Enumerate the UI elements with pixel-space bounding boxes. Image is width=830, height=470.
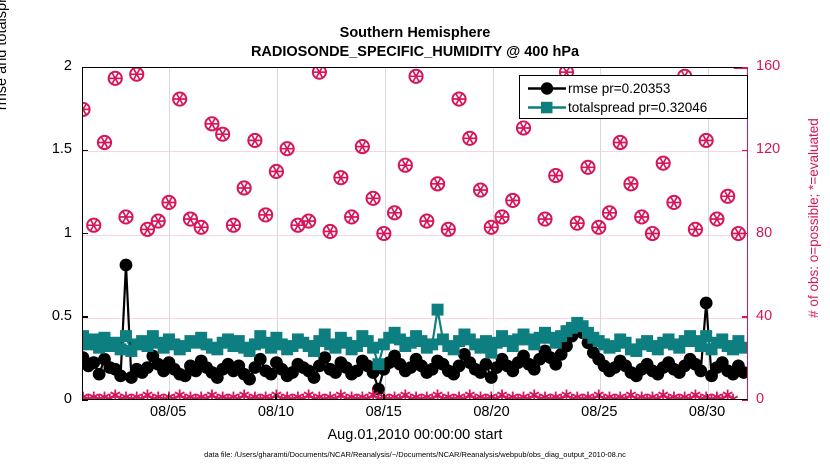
- y-tick-label: 1.5: [12, 141, 72, 157]
- title-line-2: RADIOSONDE_SPECIFIC_HUMIDITY @ 400 hPa: [0, 42, 830, 62]
- y-tick-label: 0: [12, 391, 72, 407]
- y-axis-label: rmse and totalspread: [0, 0, 10, 152]
- x-tick-label: 08/25: [559, 404, 639, 420]
- x-tick-mark: [599, 394, 600, 400]
- x-tick-mark: [491, 394, 492, 400]
- y-tick-mark: [82, 150, 88, 151]
- title-line-1: Southern Hemisphere: [0, 24, 830, 42]
- y-tick-label: 1: [12, 225, 72, 241]
- y2-tick-label: 0: [756, 391, 816, 407]
- legend-item-totalspread: totalspread pr=0.32046: [526, 98, 741, 117]
- chart-page: Southern Hemisphere RADIOSONDE_SPECIFIC_…: [0, 0, 830, 470]
- x-tick-mark: [383, 394, 384, 400]
- x-tick-label: 08/30: [667, 404, 747, 420]
- chart-legend: rmse pr=0.20353 totalspread pr=0.32046: [519, 75, 748, 119]
- y2-tick-mark: [742, 67, 748, 68]
- x-tick-mark: [275, 394, 276, 400]
- y-tick-label: 0.5: [12, 308, 72, 324]
- y-tick-mark: [82, 67, 88, 68]
- totalspread-marker-icon: [526, 98, 568, 117]
- rmse-marker-icon: [526, 79, 568, 98]
- legend-label-rmse: rmse pr=0.20353: [568, 81, 670, 96]
- x-tick-label: 08/20: [452, 404, 532, 420]
- x-tick-label: 08/10: [236, 404, 316, 420]
- legend-item-rmse: rmse pr=0.20353: [526, 79, 741, 98]
- y-tick-mark: [82, 400, 88, 401]
- x-tick-label: 08/05: [128, 404, 208, 420]
- y2-axis-label: # of obs: o=possible; *=evaluated: [806, 48, 821, 388]
- data-file-footer: data file: /Users/gharamti/Documents/NCA…: [0, 450, 830, 459]
- y2-tick-mark: [742, 400, 748, 401]
- x-tick-mark: [707, 394, 708, 400]
- y-tick-mark: [82, 233, 88, 234]
- y-tick-mark: [82, 316, 88, 317]
- y2-tick-mark: [742, 150, 748, 151]
- x-axis-label: Aug.01,2010 00:00:00 start: [0, 427, 830, 443]
- x-tick-mark: [168, 394, 169, 400]
- chart-title: Southern Hemisphere RADIOSONDE_SPECIFIC_…: [0, 24, 830, 62]
- y-tick-label: 2: [12, 58, 72, 74]
- y2-tick-mark: [742, 316, 748, 317]
- series-circle: [83, 259, 747, 396]
- x-tick-label: 08/15: [344, 404, 424, 420]
- y2-tick-mark: [742, 233, 748, 234]
- legend-label-totalspread: totalspread pr=0.32046: [568, 100, 707, 115]
